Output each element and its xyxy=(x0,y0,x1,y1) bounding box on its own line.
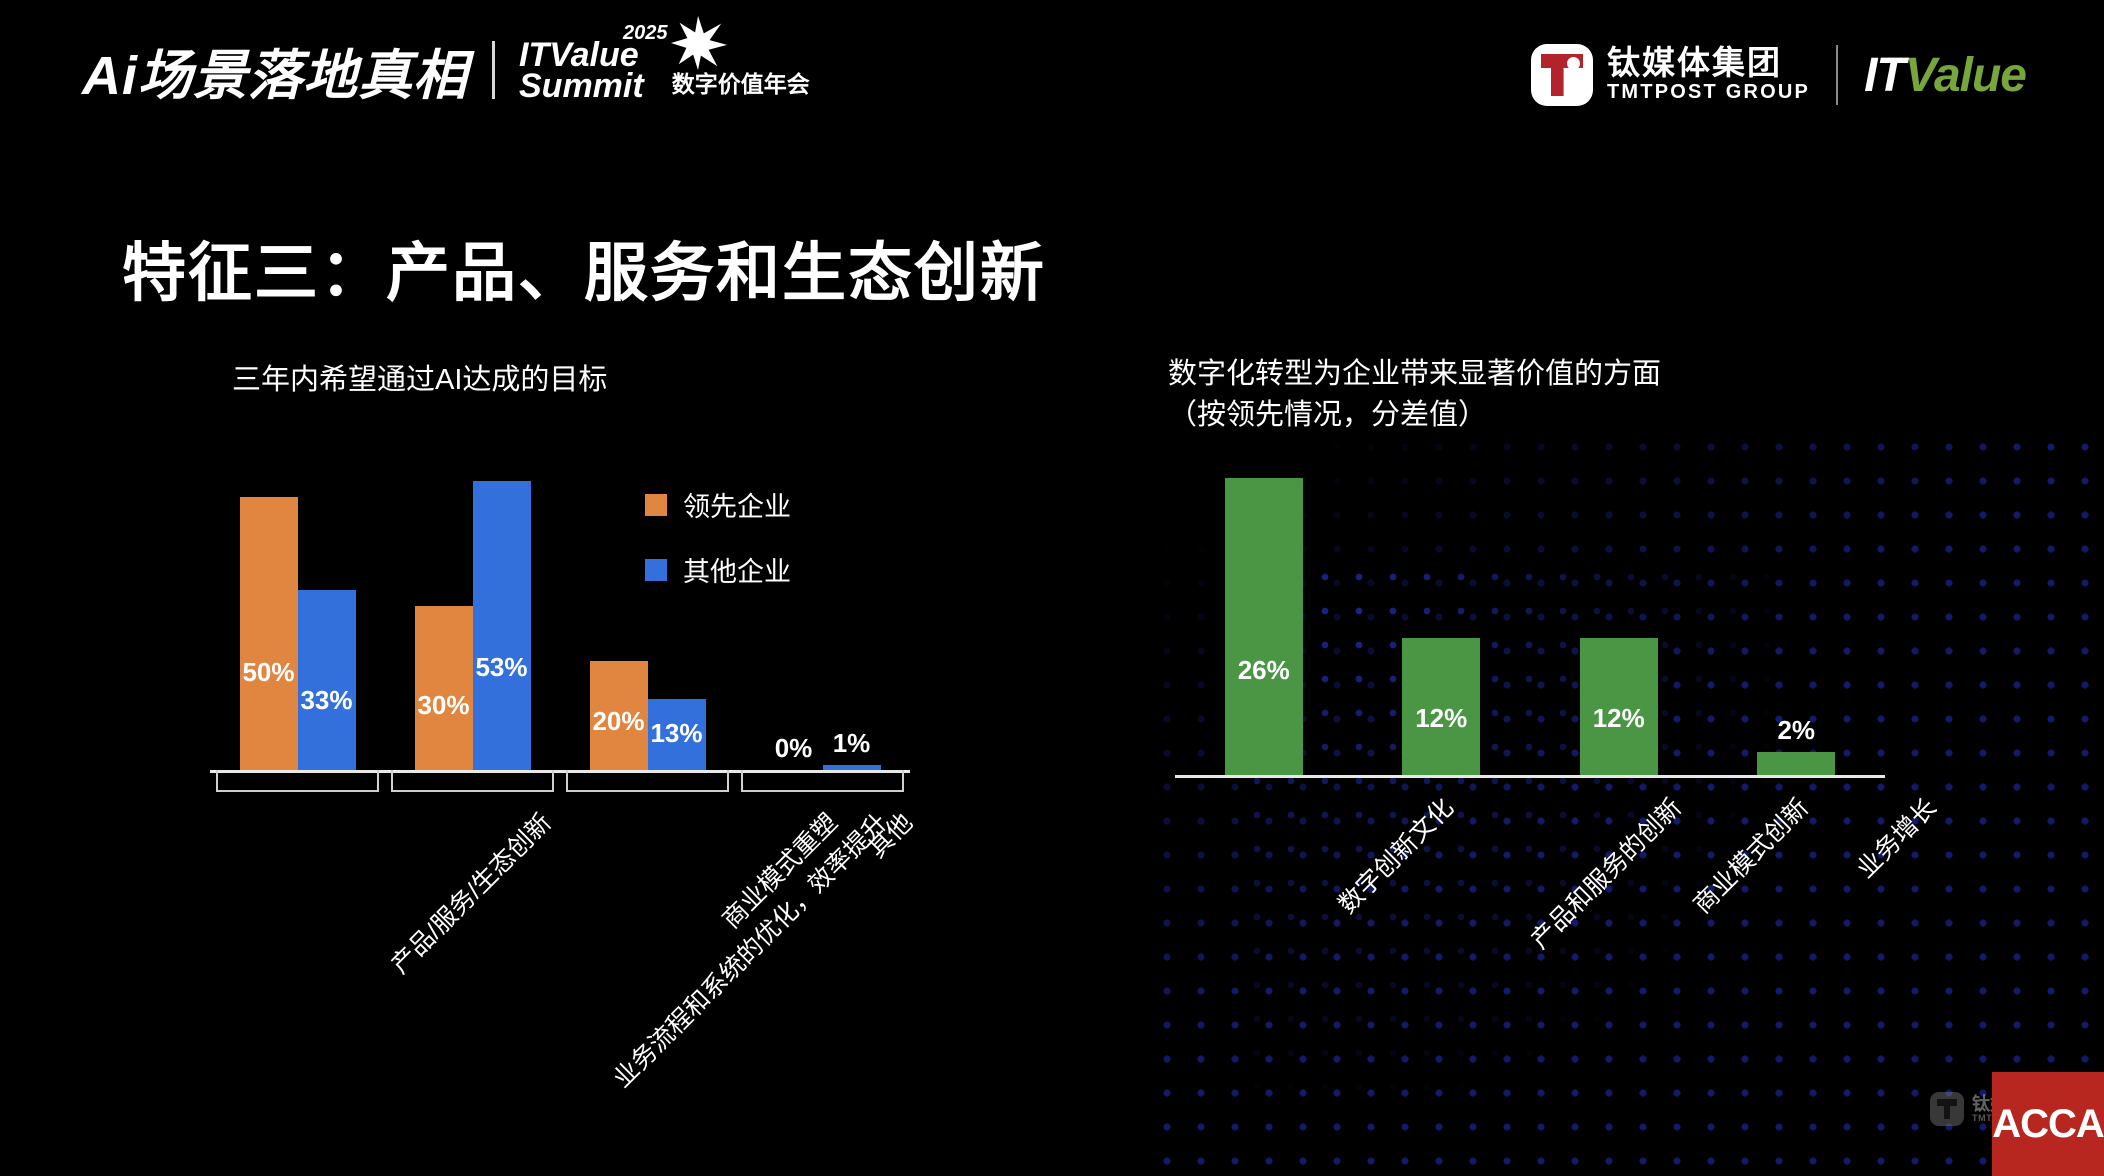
tmtpost-wordmark: 钛媒体集团 TMTPOST GROUP xyxy=(1607,46,1810,104)
axis-tick-bracket xyxy=(216,790,379,792)
bar: 13% xyxy=(648,699,706,770)
bar-group: 26% xyxy=(1175,478,1353,775)
axis-tick xyxy=(566,770,568,792)
axis-tick xyxy=(902,770,904,792)
axis-tick xyxy=(216,770,218,792)
axis-tick xyxy=(377,770,379,792)
bar-group: 12% xyxy=(1353,638,1531,775)
bar: 33% xyxy=(298,590,356,770)
bar-group: 30%53% xyxy=(385,481,560,770)
x-axis-line xyxy=(1175,775,1885,778)
logo-divider xyxy=(1836,45,1838,105)
bar: 50% xyxy=(240,497,298,770)
bar-group: 0%1% xyxy=(735,765,910,770)
bar: 53% xyxy=(473,481,531,770)
itvalue-logo-value: Value xyxy=(1905,49,2026,102)
right-chart-title: 数字化转型为企业带来显著价值的方面 （按领先情况，分差值） xyxy=(1168,354,1661,436)
bar-group: 50%33% xyxy=(210,497,385,770)
category-label: 产品和服务的创新 xyxy=(1521,789,1688,956)
category-label: 业务流程和系统的优化，效率提升 xyxy=(603,804,894,1095)
brand-title: Ai场景落地真相 xyxy=(82,49,468,103)
bar-group: 12% xyxy=(1530,638,1708,775)
bar: 26% xyxy=(1225,478,1303,775)
bar: 30% xyxy=(415,606,473,770)
tmtpost-name-en: TMTPOST GROUP xyxy=(1607,81,1810,104)
acca-logo-text: ACCA xyxy=(1992,1102,2104,1147)
bar-value-label: 13% xyxy=(650,718,702,749)
bar-value-label: 20% xyxy=(592,706,644,737)
itvalue-logo: ITValue xyxy=(1864,48,2026,103)
bar-value-label: 12% xyxy=(1415,703,1467,734)
tmtpost-name-cn: 钛媒体集团 xyxy=(1607,46,1810,81)
itvalue-logo-it: IT xyxy=(1864,49,1905,102)
bar-group: 2% xyxy=(1708,752,1886,775)
x-axis-line xyxy=(210,770,910,773)
bar-value-label: 30% xyxy=(417,690,469,721)
sponsor-logos: 钛媒体集团 TMTPOST GROUP ITValue xyxy=(1531,44,2026,106)
axis-tick-bracket xyxy=(741,790,904,792)
bar: 1% xyxy=(823,765,881,770)
left-bar-chart: 50%33%产品/服务/生态创新30%53%业务流程和系统的优化，效率提升20%… xyxy=(210,470,910,860)
bar: 12% xyxy=(1402,638,1480,775)
page-title: 特征三：产品、服务和生态创新 xyxy=(122,222,1046,314)
acca-logo: ACCA xyxy=(1992,1072,2104,1176)
tmtpost-mark-icon xyxy=(1531,44,1593,106)
brand-title-prefix: Ai xyxy=(82,46,138,106)
category-label: 商业模式创新 xyxy=(1684,789,1816,921)
axis-tick-bracket xyxy=(391,790,554,792)
star-burst-icon xyxy=(669,14,727,72)
left-chart-title: 三年内希望通过AI达成的目标 xyxy=(232,360,607,401)
bar: 12% xyxy=(1580,638,1658,775)
axis-tick xyxy=(727,770,729,792)
itvalue-line2: Summit xyxy=(519,71,644,102)
bar-value-label: 53% xyxy=(475,652,527,683)
bar-value-label: 0% xyxy=(775,733,813,764)
bar-value-label: 2% xyxy=(1777,715,1815,746)
brand-divider xyxy=(492,41,495,99)
bar-group: 20%13% xyxy=(560,661,735,770)
axis-tick-bracket xyxy=(566,790,729,792)
category-label: 业务增长 xyxy=(1847,789,1943,885)
event-brand-lockup: Ai场景落地真相 ITValue Summit 2025 数字价值年会 xyxy=(82,40,810,103)
slide-header: Ai场景落地真相 ITValue Summit 2025 数字价值年会 钛媒体集… xyxy=(0,0,2104,140)
tmtpost-logo: 钛媒体集团 TMTPOST GROUP xyxy=(1531,44,1810,106)
right-bar-chart: 26%数字创新文化12%产品和服务的创新12%商业模式创新2%业务增长 xyxy=(1175,455,1885,860)
brand-title-cn: 场景落地真相 xyxy=(138,46,468,106)
axis-tick xyxy=(552,770,554,792)
bar-value-label: 1% xyxy=(833,728,871,759)
tmtpost-watermark-icon xyxy=(1930,1092,1964,1126)
bar: 20% xyxy=(590,661,648,770)
bar-value-label: 26% xyxy=(1238,655,1290,686)
bar-value-label: 33% xyxy=(300,685,352,716)
bar-value-label: 50% xyxy=(242,657,294,688)
axis-tick xyxy=(391,770,393,792)
event-year: 2025 xyxy=(623,24,668,42)
axis-tick xyxy=(741,770,743,792)
category-label: 数字创新文化 xyxy=(1329,789,1461,921)
bar: 2% xyxy=(1757,752,1835,775)
itvalue-summit-logo: ITValue Summit 2025 xyxy=(519,40,644,103)
category-label: 产品/服务/生态创新 xyxy=(381,804,558,981)
bar-value-label: 12% xyxy=(1593,703,1645,734)
